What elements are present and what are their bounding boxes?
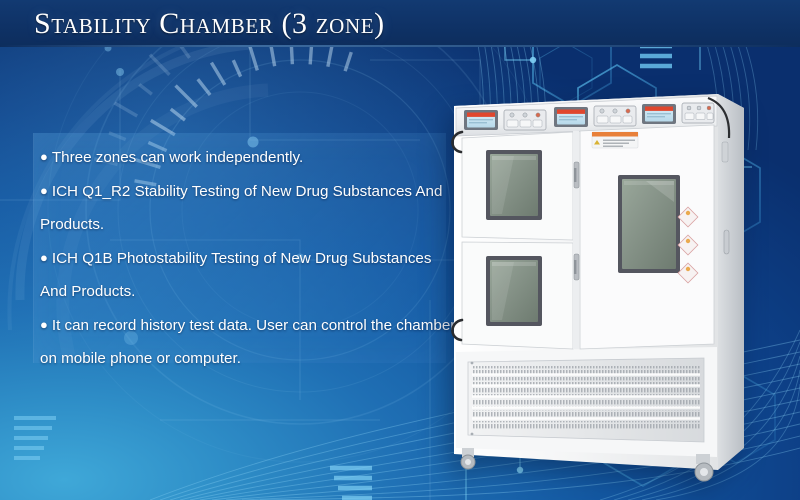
bullet-icon: ● (40, 183, 48, 198)
viewing-window (486, 256, 542, 326)
zone-3-touchscreen[interactable] (642, 104, 676, 124)
viewing-window (618, 175, 680, 273)
zone-2-touchscreen[interactable] (554, 107, 588, 127)
bottom-ventilation-grille (456, 347, 717, 457)
list-item: ●ICH Q1B Photostability Testing of New D… (40, 241, 460, 308)
bullet-icon: ● (40, 317, 48, 332)
feature-list: ●Three zones can work independently. ●IC… (40, 140, 460, 375)
list-item: ●Three zones can work independently. (40, 140, 460, 174)
page-title: Stability Chamber (3 zone) (34, 6, 385, 42)
list-item-text: ICH Q1B Photostability Testing of New Dr… (40, 250, 431, 300)
dash-stack-center (330, 468, 372, 498)
list-item: ●It can record history test data. User c… (40, 308, 460, 375)
list-item-text: It can record history test data. User ca… (40, 317, 455, 367)
list-item-text: ICH Q1_R2 Stability Testing of New Drug … (40, 183, 442, 233)
door-hinges[interactable] (573, 131, 579, 349)
zone-2-switch-panel[interactable] (594, 106, 636, 126)
bullet-icon: ● (40, 250, 48, 265)
list-item-text: Three zones can work independently. (52, 149, 303, 166)
header-band: Stability Chamber (3 zone) (0, 0, 800, 47)
dash-stack-left (14, 418, 56, 458)
hazard-stickers (678, 207, 698, 283)
lower-left-door[interactable] (462, 242, 573, 349)
viewing-window (486, 150, 542, 220)
product-banner: Stability Chamber (3 zone) ●Three zones … (0, 0, 800, 500)
caster-wheel (461, 448, 475, 469)
list-item: ●ICH Q1_R2 Stability Testing of New Drug… (40, 174, 460, 241)
right-door[interactable] (580, 125, 714, 349)
zone-1-touchscreen[interactable] (464, 110, 498, 130)
bullet-icon: ● (40, 149, 48, 164)
zone-1-switch-panel[interactable] (504, 110, 546, 130)
upper-left-door[interactable] (462, 132, 573, 240)
warning-label (592, 132, 638, 148)
zone-3-switch-panel[interactable] (682, 103, 714, 123)
product-image (440, 82, 760, 482)
